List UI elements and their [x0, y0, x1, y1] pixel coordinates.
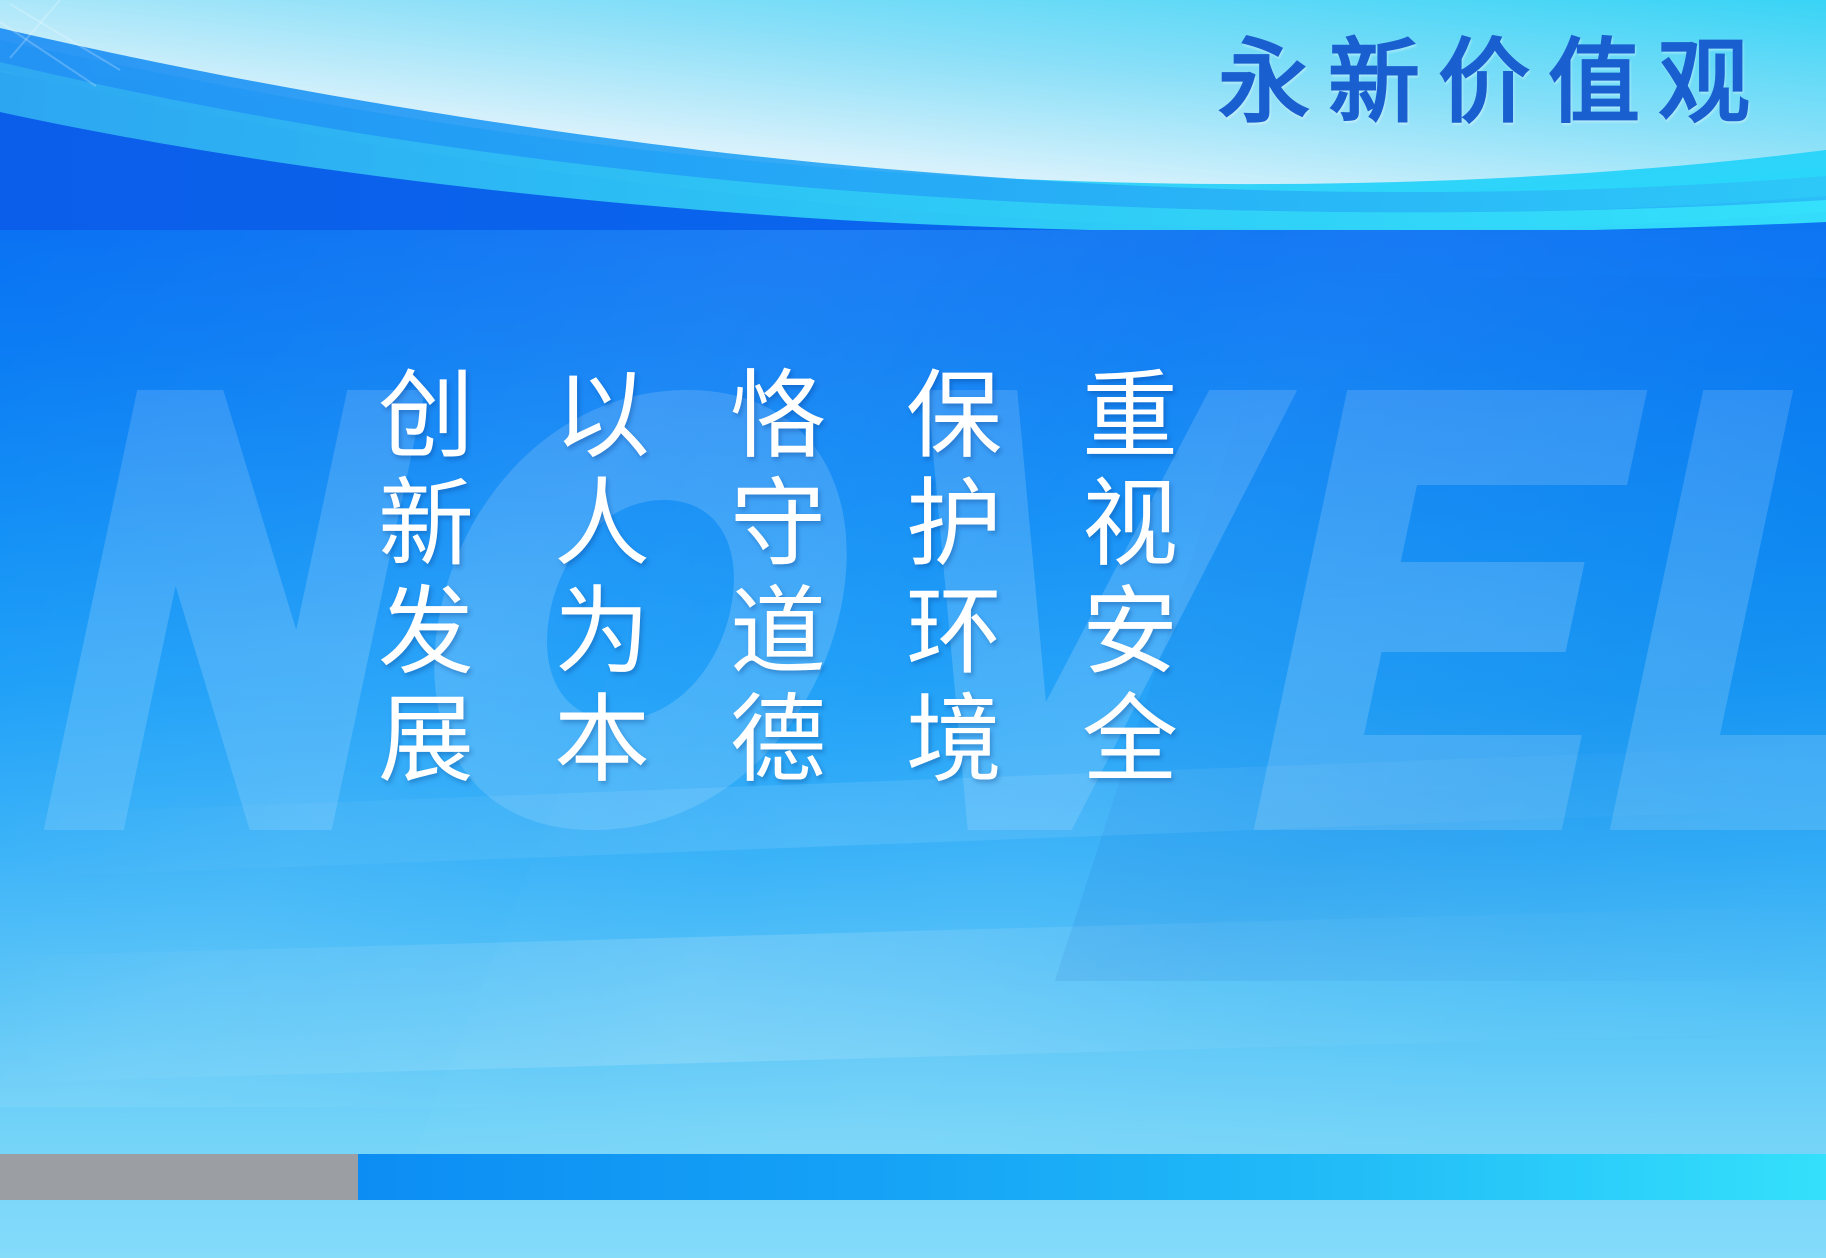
slide-canvas: 永新价值观 创 新 发 展 以 人 为 本 恪 守 道 德 保 护 环 境 重 [0, 0, 1826, 1258]
background-streak-lower [0, 905, 1826, 1082]
value-char: 新 [378, 470, 474, 578]
value-char: 护 [906, 470, 1002, 578]
value-char: 恪 [730, 362, 826, 470]
value-char: 环 [906, 578, 1002, 686]
page-title: 永新价值观 [1218, 36, 1768, 128]
value-char: 守 [730, 470, 826, 578]
value-char: 保 [906, 362, 1002, 470]
value-char: 德 [730, 686, 826, 794]
footer-bar [0, 1154, 1826, 1200]
footer-bar-blue-segment [358, 1154, 1826, 1200]
value-char: 展 [378, 686, 474, 794]
value-column-abide-by-morality: 恪 守 道 德 [730, 362, 826, 794]
value-char: 创 [378, 362, 474, 470]
value-column-value-safety: 重 视 安 全 [1082, 362, 1178, 794]
value-char: 视 [1082, 470, 1178, 578]
value-char: 本 [554, 686, 650, 794]
value-char: 为 [554, 578, 650, 686]
value-char: 全 [1082, 686, 1178, 794]
value-char: 安 [1082, 578, 1178, 686]
value-char: 发 [378, 578, 474, 686]
value-char: 重 [1082, 362, 1178, 470]
footer-bar-gray-segment [0, 1154, 358, 1200]
value-column-people-oriented: 以 人 为 本 [554, 362, 650, 794]
value-column-innovation-development: 创 新 发 展 [378, 362, 474, 794]
value-char: 境 [906, 686, 1002, 794]
value-char: 以 [554, 362, 650, 470]
value-char: 道 [730, 578, 826, 686]
values-grid: 创 新 发 展 以 人 为 本 恪 守 道 德 保 护 环 境 重 视 安 全 [378, 362, 1198, 794]
value-column-protect-environment: 保 护 环 境 [906, 362, 1002, 794]
value-char: 人 [554, 470, 650, 578]
